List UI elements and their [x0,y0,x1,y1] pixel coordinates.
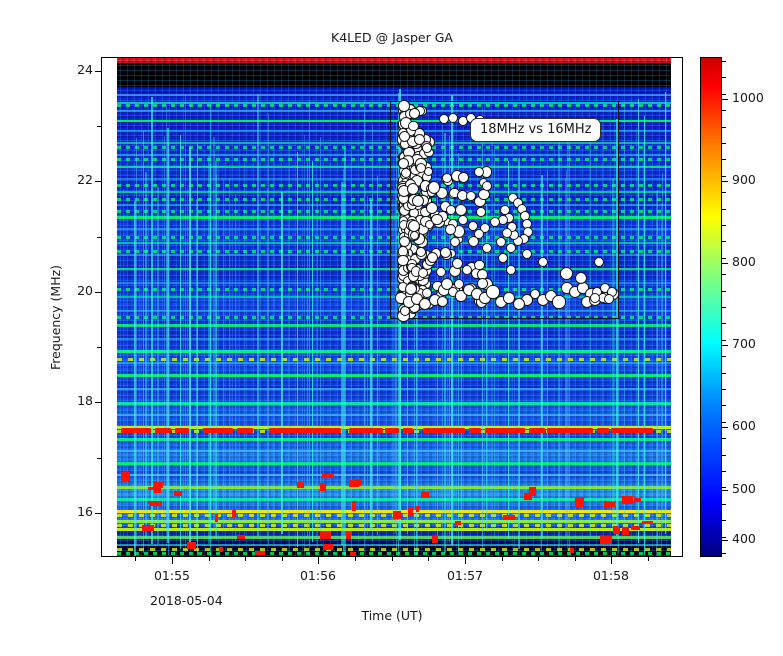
colorbar-tick-label: 700 [732,336,756,351]
scatter-point [466,191,476,201]
colorbar-tick-label: 400 [732,531,756,546]
transmission-dash [529,428,545,433]
colorbar-minor-tick [722,553,726,554]
colorbar-tick [722,99,728,100]
vertical-spike [309,100,310,548]
signal-blob [642,521,653,524]
x-axis-tick-label: 01:58 [576,568,646,583]
colorbar-minor-tick [722,537,726,538]
signal-blob [524,493,532,500]
x-axis-tick [611,557,612,564]
x-axis-minor-tick [575,557,576,561]
vertical-spike [166,105,167,532]
scatter-point [496,237,506,247]
signal-blob [320,483,326,491]
scatter-point [500,205,510,215]
scatter-point [462,265,472,275]
signal-blob [320,531,331,539]
transmission-dash [203,428,233,433]
x-axis-tick-label: 01:57 [430,568,500,583]
signal-blob [352,502,356,511]
vertical-spike [644,116,646,555]
signal-blob [150,501,162,506]
scatter-point [458,215,468,225]
signal-blob [349,480,359,487]
scatter-point [474,229,484,239]
scatter-point [399,131,410,142]
scatter-point [407,183,419,195]
x-axis-title: Time (UT) [292,608,492,623]
colorbar-minor-tick [722,323,726,324]
vertical-spike [235,194,236,541]
vertical-spike [197,143,199,555]
signal-blob [219,547,223,552]
vertical-spike [344,148,346,557]
signal-blob [503,515,515,520]
vertical-spike [351,151,352,549]
colorbar-minor-tick [722,291,726,292]
colorbar-minor-tick [722,340,726,341]
vertical-spike [189,147,191,542]
x-axis-minor-tick [209,557,210,561]
colorbar-minor-tick [722,159,726,160]
transmission-dash [547,428,593,433]
colorbar-tick [722,263,728,264]
vertical-spike [657,190,659,545]
colorbar-minor-tick [722,225,726,226]
colorbar-tick-label: 900 [732,172,756,187]
scatter-point [426,202,438,214]
vertical-spike [244,160,245,539]
signal-blob [121,472,130,481]
colorbar-minor-tick [722,274,726,275]
vertical-spike [229,178,230,531]
scatter-point [442,173,452,183]
signal-blob [215,514,218,522]
signal-blob [622,527,629,535]
carrier-dashes [117,548,671,551]
vertical-spike [312,161,314,542]
colorbar-minor-tick [722,143,726,144]
transmission-dash [385,428,399,433]
transmission-dash [349,428,383,433]
y-axis-tick-label: 16 [55,504,93,519]
signal-blob [622,496,633,504]
signal-blob [604,502,615,507]
transmission-dash [303,428,341,433]
vertical-spike [185,94,187,552]
colorbar-minor-tick [722,77,726,78]
vertical-spike [638,99,640,543]
x-axis-tick [318,557,319,564]
signal-blob [421,492,429,498]
vertical-spike [367,196,368,535]
signal-blob [142,525,154,531]
annotation-label: 18MHz vs 16MHz [470,118,601,142]
scatter-point [474,167,484,177]
vertical-spike [307,162,308,539]
y-axis-minor-tick [97,458,101,459]
signal-blob [323,544,333,550]
transmission-dash [611,428,653,433]
scatter-point [436,267,446,277]
plot-axes: 18MHz vs 16MHz [101,57,683,557]
transmission-dash [469,428,481,433]
y-axis-minor-tick [97,237,101,238]
scatter-point [552,295,565,308]
vertical-spike [210,106,212,532]
signal-blob [613,526,618,533]
signal-blob [631,526,640,530]
scatter-point [502,228,512,238]
colorbar-minor-tick [722,241,726,242]
x-axis-minor-tick [392,557,393,561]
x-axis-tick-label: 01:56 [283,568,353,583]
scatter-point [476,207,486,217]
scatter-point [513,298,526,311]
colorbar-minor-tick [722,487,726,488]
vertical-spike [661,203,662,552]
scatter-point [506,243,516,253]
vertical-spike [151,97,153,544]
scatter-point [422,143,432,153]
carrier-line [117,536,671,539]
signal-blob [148,487,159,490]
scatter-point [506,265,516,275]
colorbar-minor-tick [722,94,726,95]
x-axis-minor-tick [355,557,356,561]
scatter-point [452,258,463,269]
vertical-spike [273,149,274,544]
vertical-spike [145,172,147,539]
y-axis-tick-label: 18 [55,393,93,408]
x-axis-minor-tick [648,557,649,561]
signal-blob [255,551,265,555]
colorbar-minor-tick [722,422,726,423]
colorbar-tick-label: 800 [732,254,756,269]
vertical-spike [289,144,290,555]
colorbar-minor-tick [722,471,726,472]
vertical-spike [223,180,224,531]
colorbar-minor-tick [722,258,726,259]
colorbar-minor-tick [722,61,726,62]
scatter-point [408,220,420,232]
transmission-dash [155,428,171,433]
colorbar-minor-tick [722,520,726,521]
transmission-dash [485,428,525,433]
vertical-spike [164,136,165,530]
signal-blob [432,536,438,543]
x-axis-minor-tick [502,557,503,561]
vertical-spike [665,92,667,534]
x-axis-tick-label: 01:55 [137,568,207,583]
vertical-spike [139,189,140,543]
x-axis-minor-tick [282,557,283,561]
colorbar-minor-tick [722,127,726,128]
scatter-point [445,224,456,235]
carrier-line [117,544,671,546]
colorbar-minor-tick [722,192,726,193]
transmission-dash [237,428,253,433]
vertical-spike [134,201,136,556]
vertical-spike [168,144,169,555]
scatter-point [474,260,484,270]
signal-blob [634,498,641,502]
vertical-spike [123,189,124,536]
scatter-point [498,253,508,263]
signal-blob [237,535,245,539]
scatter-point [408,121,419,132]
vertical-spike [257,94,259,536]
carrier-line [117,94,671,96]
vertical-spike [377,176,379,535]
signal-blob [346,531,351,539]
x-axis-tick [172,557,173,564]
colorbar-minor-tick [722,176,726,177]
signal-blob [408,507,413,516]
scatter-point [522,249,532,259]
vertical-spike [656,191,657,555]
signal-blob [322,474,334,478]
x-axis-date: 2018-05-04 [150,593,223,608]
colorbar-frame [700,57,722,557]
y-axis-minor-tick [97,126,101,127]
y-axis-tick-label: 24 [55,62,93,77]
x-axis-tick [465,557,466,564]
y-axis-minor-tick [97,347,101,348]
scatter-point [594,257,604,267]
signal-blob [393,511,401,519]
scatter-point [560,267,573,280]
y-axis-tick [95,402,101,403]
y-axis-tick [95,292,101,293]
scatter-point [416,247,426,257]
colorbar-minor-tick [722,356,726,357]
vertical-spike [320,137,321,540]
scatter-point [437,296,448,307]
vertical-spike [267,188,268,537]
scatter-point [428,181,440,193]
scatter-point [427,252,438,263]
colorbar-minor-tick [722,504,726,505]
colorbar-minor-tick [722,455,726,456]
spectrogram-figure: K4LED @ Jasper GA 18MHz vs 16MHz 2422201… [0,0,783,656]
colorbar-minor-tick [722,373,726,374]
vertical-spike [281,192,283,534]
scatter-point [446,205,456,215]
vertical-spike [343,169,344,551]
y-axis-title: Frequency (MHz) [48,265,63,370]
colorbar-minor-tick [722,438,726,439]
signal-blob [232,510,236,518]
scatter-point [431,214,443,226]
x-axis-minor-tick [245,557,246,561]
page-title: K4LED @ Jasper GA [101,30,683,45]
vertical-spike [364,113,365,552]
signal-blob [600,536,612,544]
colorbar-minor-tick [722,209,726,210]
colorbar-tick [722,540,728,541]
scatter-point [458,172,469,183]
transmission-dash [403,428,413,433]
vertical-spike [317,179,318,552]
x-axis-minor-tick [428,557,429,561]
colorbar-tick [722,490,728,491]
colorbar-tick [722,181,728,182]
scatter-point [450,237,460,247]
vertical-spike [304,135,305,556]
x-axis-minor-tick [538,557,539,561]
colorbar-minor-tick [722,110,726,111]
colorbar-minor-tick [722,389,726,390]
vertical-spike [372,125,373,541]
vertical-spike [624,102,625,534]
signal-blob [416,506,419,512]
colorbar-tick-label: 600 [732,418,756,433]
vertical-spike [636,128,637,549]
transmission-dash [175,428,189,433]
transmission-dash [423,428,465,433]
scatter-point [482,181,492,191]
vertical-spike [215,161,217,538]
scatter-point [409,108,420,119]
colorbar-minor-tick [722,307,726,308]
y-axis-tick [95,181,101,182]
scatter-point [482,243,492,253]
colorbar-tick-label: 1000 [732,90,764,105]
scatter-point [398,158,409,169]
carrier-dashes [117,552,671,555]
colorbar-tick-label: 500 [732,481,756,496]
signal-blob [656,555,661,557]
signal-blob [570,548,574,553]
signal-blob [297,482,304,488]
transmission-dash [597,428,609,433]
signal-blob [455,521,461,525]
scatter-point [412,195,424,207]
y-axis-tick-label: 22 [55,172,93,187]
colorbar-tick [722,427,728,428]
scatter-point [538,257,548,267]
scatter-point [416,163,426,173]
signal-blob [174,491,182,496]
scatter-point [490,217,500,227]
vertical-spike [143,131,145,553]
scatter-point [448,113,458,123]
colorbar-minor-tick [722,405,726,406]
transmission-dash [121,428,151,433]
y-axis-tick [95,71,101,72]
x-axis-minor-tick [135,557,136,561]
y-axis-tick [95,513,101,514]
scatter-point [604,294,615,305]
vertical-spike [187,186,188,540]
scatter-point [398,100,410,112]
signal-blob [575,497,584,507]
vertical-spike [180,135,182,549]
signal-blob [187,542,196,549]
colorbar-tick [722,345,728,346]
